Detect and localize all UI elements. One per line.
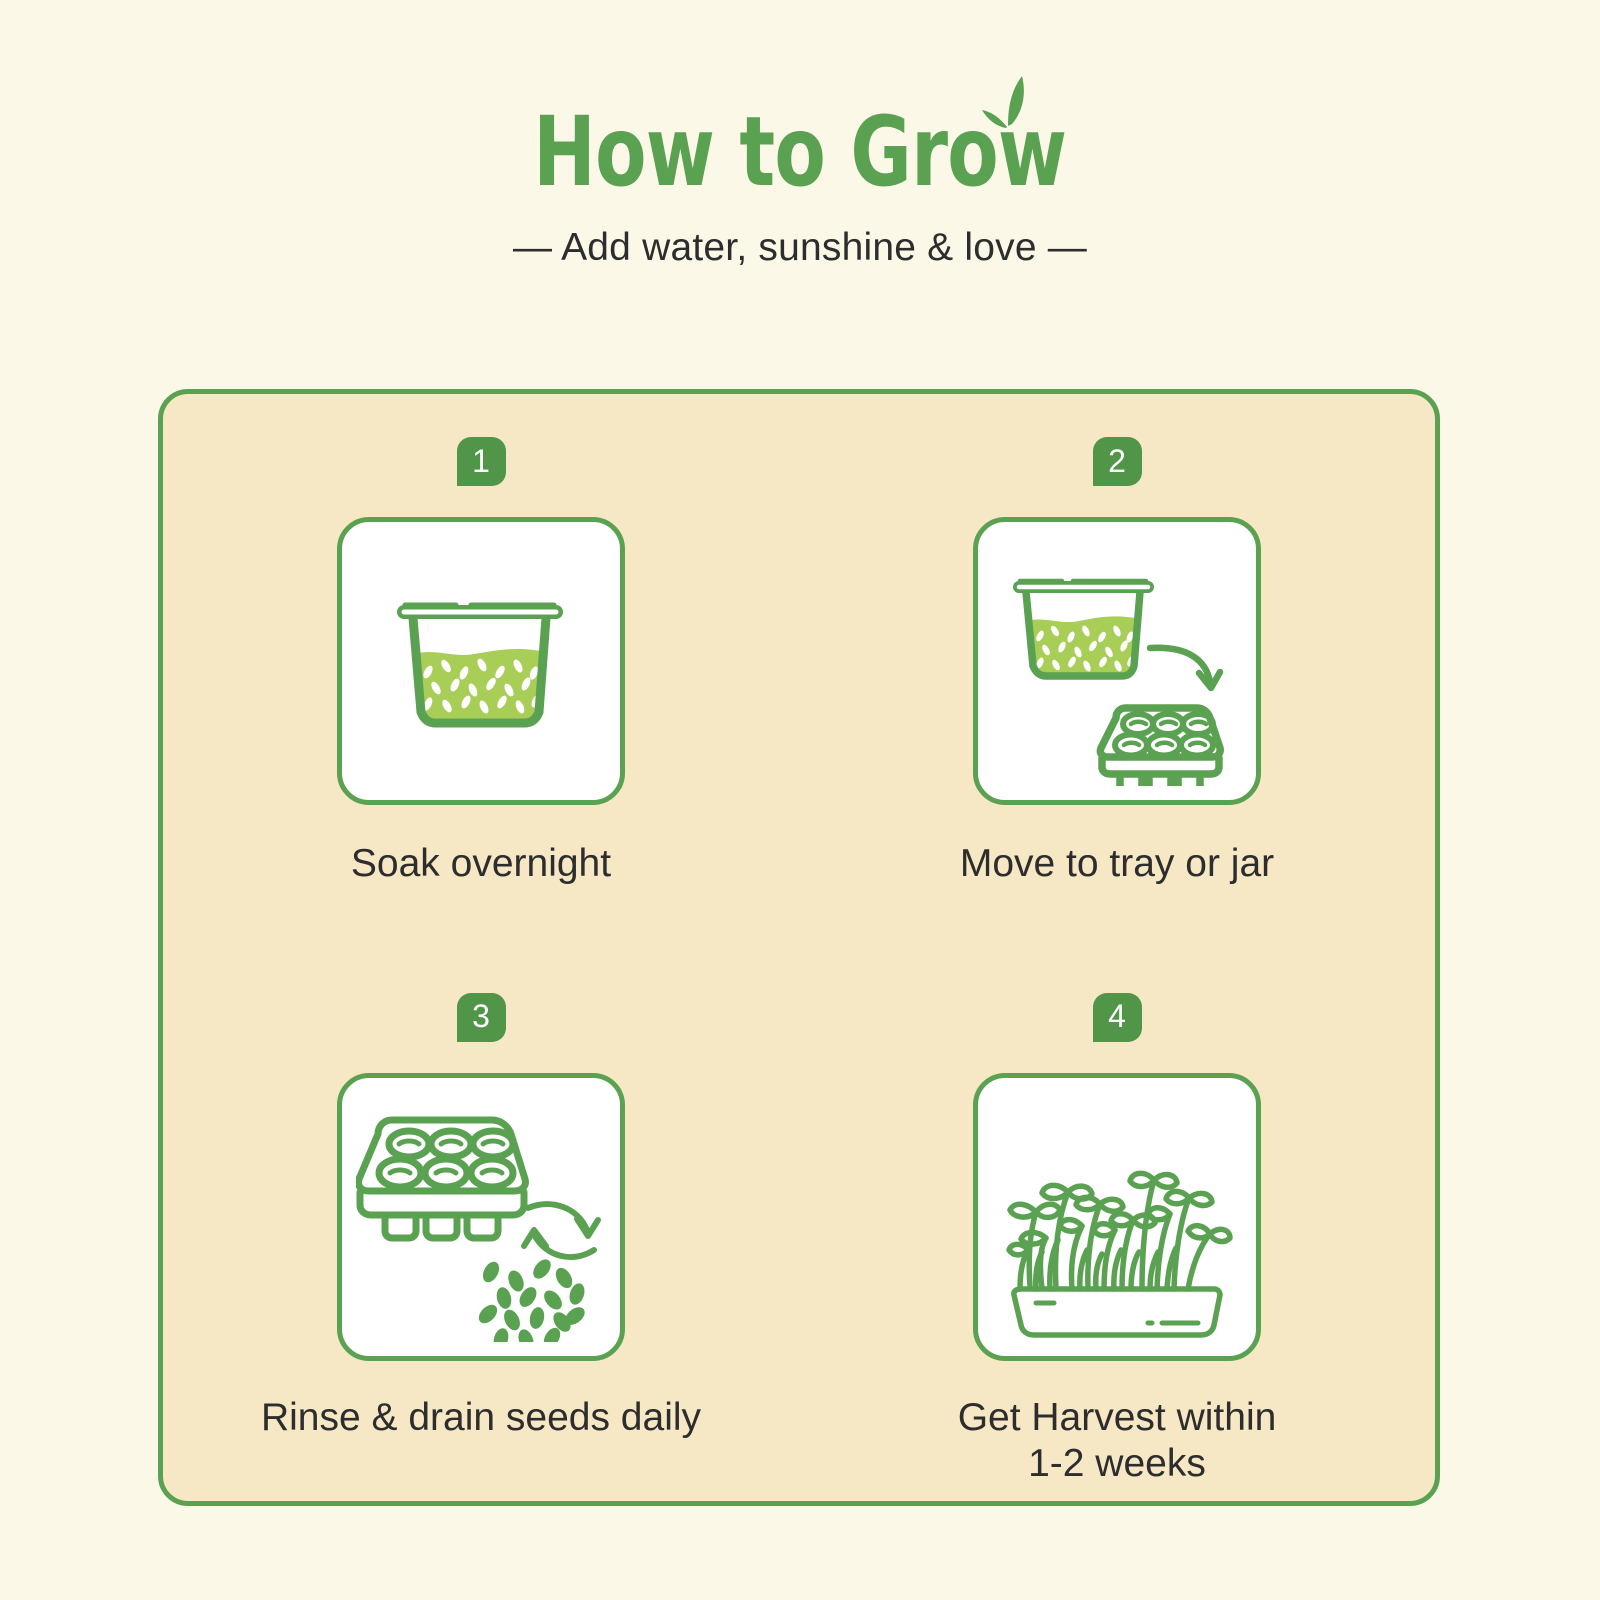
soaking-bowl-icon	[356, 536, 606, 786]
page-title: How to Grow	[458, 104, 1141, 200]
bowl-arrow-tray-icon	[992, 536, 1242, 786]
steps-grid: 1	[163, 394, 1435, 1501]
step-item-1[interactable]: 1	[163, 394, 799, 948]
step-item-4[interactable]: 4	[799, 948, 1435, 1502]
step-badge-2: 2	[1093, 437, 1142, 486]
step-icon-card-4[interactable]	[973, 1073, 1261, 1361]
step-badge-4: 4	[1093, 993, 1142, 1042]
step-icon-card-1[interactable]	[337, 517, 625, 805]
page-subtitle: — Add water, sunshine & love —	[0, 226, 1600, 270]
step-badge-3: 3	[457, 993, 506, 1042]
steps-panel: 1	[158, 389, 1440, 1506]
step-caption-3: Rinse & drain seeds daily	[261, 1395, 701, 1441]
step-badge-1: 1	[457, 437, 506, 486]
page-title-text: How to Grow	[533, 104, 1066, 200]
step-item-3[interactable]: 3	[163, 948, 799, 1502]
microgreens-tray-icon	[992, 1092, 1242, 1342]
step-caption-4: Get Harvest within 1-2 weeks	[958, 1395, 1277, 1487]
step-icon-card-2[interactable]	[973, 517, 1261, 805]
tray-cycle-seeds-icon	[356, 1092, 606, 1342]
step-caption-1: Soak overnight	[351, 841, 611, 887]
step-icon-card-3[interactable]	[337, 1073, 625, 1361]
step-caption-2: Move to tray or jar	[960, 841, 1274, 887]
header: How to Grow — Add water, sunshine & love…	[0, 0, 1600, 270]
step-item-2[interactable]: 2	[799, 394, 1435, 948]
